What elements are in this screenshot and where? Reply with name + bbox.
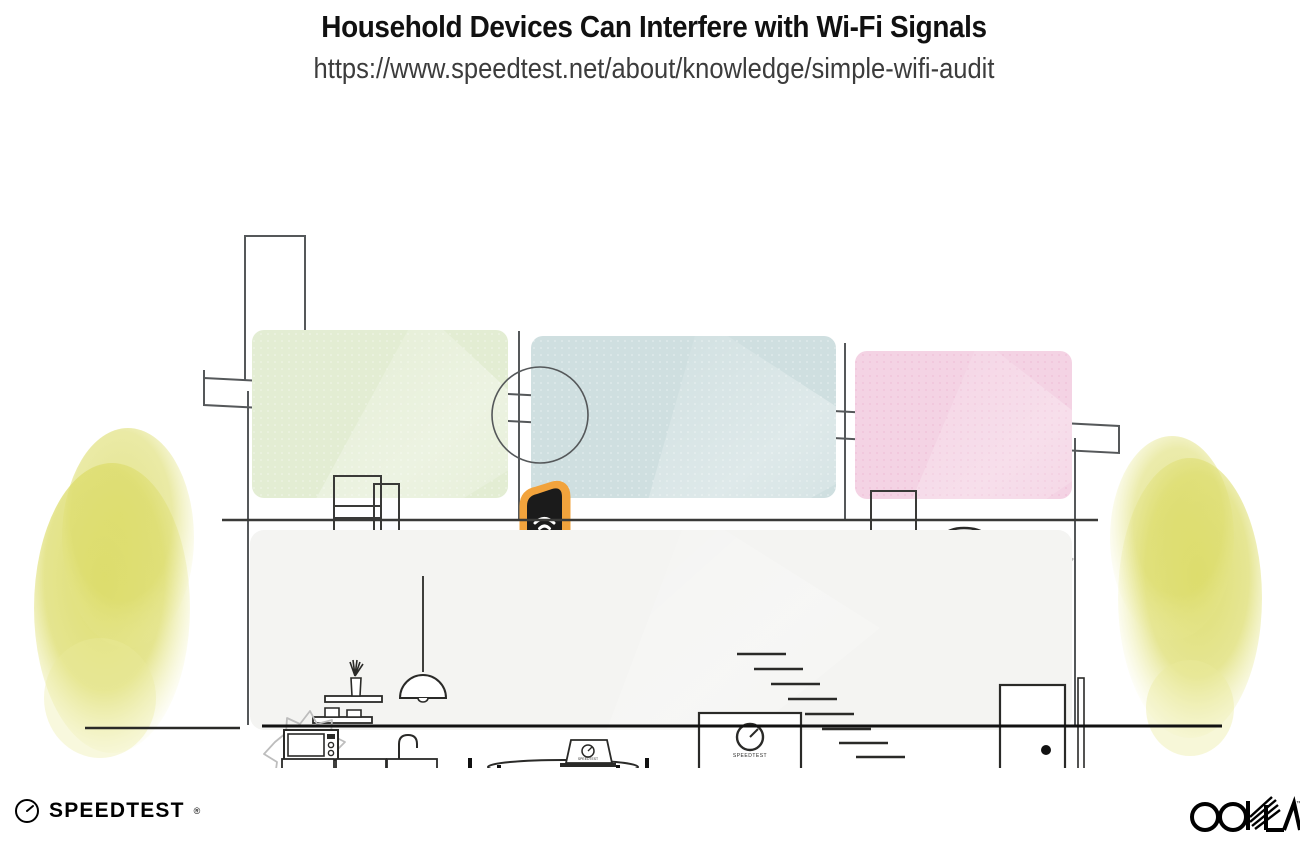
infographic-canvas: Household Devices Can Interfere with Wi-…: [0, 0, 1308, 861]
television[interactable]: SPEEDTEST: [699, 713, 801, 768]
ookla-logo: ™: [1188, 795, 1300, 842]
tv-logo-text: SPEEDTEST: [733, 753, 767, 759]
bush-left: [34, 428, 194, 758]
microwave: [284, 730, 338, 760]
door-knob[interactable]: [1041, 745, 1051, 755]
ookla-registered-mark: ™: [1296, 800, 1300, 807]
room-ground-floor: [250, 508, 1072, 758]
kitchen-sink: [399, 735, 417, 759]
laptop-logo-text: SPEEDTEST: [578, 757, 598, 761]
page-title: Household Devices Can Interfere with Wi-…: [65, 9, 1242, 45]
source-url: https://www.speedtest.net/about/knowledg…: [78, 53, 1229, 86]
door-side-panel: [1078, 678, 1084, 768]
kitchen-upper-shelf: [325, 696, 382, 702]
header: Household Devices Can Interfere with Wi-…: [0, 0, 1308, 86]
speedtest-gauge-icon: [14, 798, 40, 824]
bush-right: [1110, 436, 1262, 756]
speedtest-logo: SPEEDTEST ®: [14, 798, 200, 824]
ookla-wordmark-icon: ™: [1188, 795, 1300, 837]
kitchen-counter: [282, 759, 437, 768]
speedtest-registered-mark: ®: [194, 806, 201, 816]
house-illustration: SPEEDTEST: [0, 108, 1308, 768]
speedtest-wordmark: SPEEDTEST: [49, 799, 185, 823]
laptop[interactable]: SPEEDTEST: [560, 740, 616, 767]
